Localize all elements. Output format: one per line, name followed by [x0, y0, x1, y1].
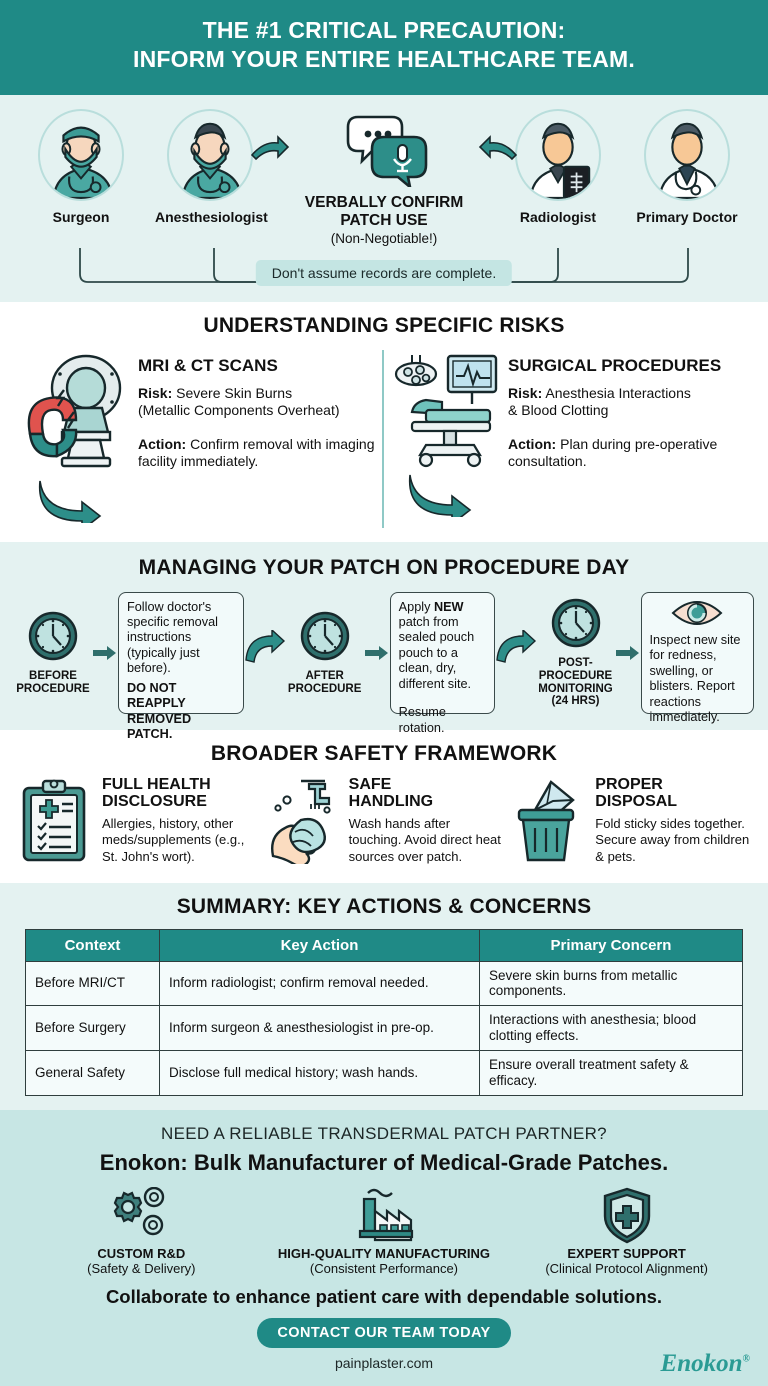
table-header-row: Context Key Action Primary Concern — [26, 929, 743, 961]
infographic-page: THE #1 CRITICAL PRECAUTION: INFORM YOUR … — [0, 0, 768, 1376]
arrow-right-icon — [615, 645, 641, 661]
safety-text: PROPER DISPOSAL Fold sticky sides togeth… — [595, 776, 750, 866]
cta-feature-sub: (Safety & Delivery) — [21, 1261, 261, 1276]
surgeon-avatar-icon — [38, 109, 124, 201]
arrow-right-icon — [92, 645, 118, 661]
flow-box-text: Follow doctor's specific removal instruc… — [127, 600, 235, 677]
cta-footer-section: NEED A RELIABLE TRANSDERMAL PATCH PARTNE… — [0, 1110, 768, 1386]
speech-bubble-microphone-icon — [284, 113, 484, 192]
team-member-primary-doctor: Primary Doctor — [632, 109, 742, 225]
confirm-subtitle: (Non-Negotiable!) — [284, 231, 484, 246]
table-row: Before Surgery Inform surgeon & anesthes… — [26, 1006, 743, 1051]
cta-tagline: Collaborate to enhance patient care with… — [0, 1286, 768, 1308]
summary-section: SUMMARY: KEY ACTIONS & CONCERNS Context … — [0, 883, 768, 1111]
registered-mark: ® — [743, 1354, 750, 1365]
team-member-label: Surgeon — [26, 209, 136, 225]
risk-value-2: & Blood Clotting — [508, 402, 608, 418]
risk-description: Risk: Severe Skin Burns (Metallic Compon… — [138, 385, 376, 420]
brand-name: Enokon — [661, 1350, 743, 1377]
verbal-confirm-block: VERBALLY CONFIRM PATCH USE (Non-Negotiab… — [284, 109, 484, 246]
team-member-label: Anesthesiologist — [155, 209, 265, 225]
cell-context: Before Surgery — [26, 1006, 160, 1051]
curved-arrow-icon — [244, 630, 286, 675]
team-member-surgeon: Surgeon — [26, 109, 136, 225]
confirm-title-l1: VERBALLY CONFIRM — [305, 194, 463, 211]
flow-step-label: AFTER PROCEDURE — [286, 670, 364, 696]
flow-box-text: Apply NEW patch from sealed pouch pouch … — [399, 600, 486, 693]
safety-heading: SAFE HANDLING — [349, 776, 504, 811]
flow-box-removal-instructions: Follow doctor's specific removal instruc… — [118, 592, 244, 714]
cta-feature-title: EXPERT SUPPORT — [507, 1246, 747, 1261]
summary-title: SUMMARY: KEY ACTIONS & CONCERNS — [0, 895, 768, 919]
cta-feature-sub: (Consistent Performance) — [264, 1261, 504, 1276]
specific-risks-section: UNDERSTANDING SPECIFIC RISKS — [0, 302, 768, 542]
safety-text: SAFE HANDLING Wash hands after touching.… — [349, 776, 504, 866]
primary-doctor-avatar-icon — [644, 109, 730, 201]
clock-icon — [299, 610, 351, 662]
clipboard-checklist-icon — [18, 776, 96, 869]
cell-action: Inform surgeon & anesthesiologist in pre… — [160, 1006, 480, 1051]
column-header-context: Context — [26, 929, 160, 961]
header-banner: THE #1 CRITICAL PRECAUTION: INFORM YOUR … — [0, 0, 768, 95]
cta-eyebrow: NEED A RELIABLE TRANSDERMAL PATCH PARTNE… — [0, 1124, 768, 1144]
handwashing-faucet-icon — [265, 776, 343, 869]
cell-concern: Severe skin burns from metallic componen… — [480, 961, 743, 1006]
safety-text: FULL HEALTH DISCLOSURE Allergies, histor… — [102, 776, 257, 866]
risk-heading: MRI & CT SCANS — [138, 356, 376, 376]
cell-context: General Safety — [26, 1051, 160, 1096]
column-header-key-action: Key Action — [160, 929, 480, 961]
cell-action: Inform radiologist; confirm removal need… — [160, 961, 480, 1006]
cta-feature-title: CUSTOM R&D — [21, 1246, 261, 1261]
website-url[interactable]: painplaster.com — [0, 1355, 768, 1371]
risk-description: Risk: Anesthesia Interactions & Blood Cl… — [508, 385, 748, 420]
radiologist-avatar-icon — [515, 109, 601, 201]
flow-step-after: AFTER PROCEDURE — [286, 610, 364, 696]
cell-concern: Interactions with anesthesia; blood clot… — [480, 1006, 743, 1051]
risk-action: Action: Confirm removal with imaging fac… — [138, 436, 376, 471]
table-row: General Safety Disclose full medical his… — [26, 1051, 743, 1096]
team-member-radiologist: Radiologist — [503, 109, 613, 225]
cell-action: Disclose full medical history; wash hand… — [160, 1051, 480, 1096]
team-member-label: Radiologist — [503, 209, 613, 225]
flow-box-apply-new-patch: Apply NEW patch from sealed pouch pouch … — [390, 592, 495, 714]
safety-body: Allergies, history, other meds/supplemen… — [102, 816, 257, 865]
cta-feature-title: HIGH-QUALITY MANUFACTURING — [264, 1246, 504, 1261]
risk-heading: SURGICAL PROCEDURES — [508, 356, 748, 376]
shield-cross-icon — [507, 1186, 747, 1244]
risk-value-2: (Metallic Components Overheat) — [138, 402, 340, 418]
safety-grid: FULL HEALTH DISCLOSURE Allergies, histor… — [0, 776, 768, 869]
enokon-logo: Enokon® — [661, 1350, 750, 1378]
anesthesiologist-avatar-icon — [167, 109, 253, 201]
cell-context: Before MRI/CT — [26, 961, 160, 1006]
action-label: Action: — [138, 436, 186, 452]
emphasis-new: NEW — [434, 600, 464, 614]
cta-feature-sub: (Clinical Protocol Alignment) — [507, 1261, 747, 1276]
confirm-title-l2: PATCH USE — [340, 212, 427, 229]
risk-column-mri: MRI & CT SCANS Risk: Severe Skin Burns (… — [14, 350, 384, 528]
risk-action: Action: Plan during pre-operative consul… — [508, 436, 748, 471]
cta-headline: Enokon: Bulk Manufacturer of Medical-Gra… — [0, 1150, 768, 1176]
eye-icon — [650, 600, 746, 630]
team-row: Surgeon Anest — [0, 109, 768, 246]
factory-icon — [264, 1186, 504, 1244]
flow-box-extra-text: Resume rotation. — [399, 705, 486, 736]
safety-item-handling: SAFE HANDLING Wash hands after touching.… — [261, 776, 508, 869]
flow-step-before: BEFORE PROCEDURE — [14, 610, 92, 696]
flow-box-text: Inspect new site for redness, swelling, … — [650, 633, 746, 726]
flow-box-bold-text: DO NOT REAPPLY REMOVED PATCH. — [127, 681, 235, 743]
arrow-right-icon — [250, 135, 290, 168]
procedure-flow: BEFORE PROCEDURE Follow doctor's specifi… — [0, 592, 768, 714]
flow-box-inspect-site: Inspect new site for redness, swelling, … — [641, 592, 755, 714]
safety-body: Wash hands after touching. Avoid direct … — [349, 816, 504, 865]
safety-heading: FULL HEALTH DISCLOSURE — [102, 776, 257, 811]
records-note: Don't assume records are complete. — [256, 260, 512, 286]
mri-scanner-magnet-icon — [20, 350, 132, 528]
arrow-left-icon — [478, 135, 518, 168]
summary-table: Context Key Action Primary Concern Befor… — [25, 929, 743, 1097]
flow-step-label: POST-PROCEDURE MONITORING (24 HRS) — [537, 657, 615, 709]
risk-label: Risk: — [138, 385, 172, 401]
cell-concern: Ensure overall treatment safety & effica… — [480, 1051, 743, 1096]
team-connector: Don't assume records are complete. — [0, 248, 768, 292]
gears-icon — [21, 1186, 261, 1244]
safety-item-disclosure: FULL HEALTH DISCLOSURE Allergies, histor… — [14, 776, 261, 869]
cta-features: CUSTOM R&D (Safety & Delivery) HIGH-QU — [0, 1186, 768, 1276]
team-member-anesthesiologist: Anesthesiologist — [155, 109, 265, 225]
action-label: Action: — [508, 436, 556, 452]
safety-title: BROADER SAFETY FRAMEWORK — [0, 742, 768, 766]
risk-value: Severe Skin Burns — [172, 385, 292, 401]
procedure-day-title: MANAGING YOUR PATCH ON PROCEDURE DAY — [0, 556, 768, 580]
healthcare-team-section: Surgeon Anest — [0, 95, 768, 302]
clock-icon — [27, 610, 79, 662]
header-line-1: THE #1 CRITICAL PRECAUTION: — [203, 17, 566, 43]
risk-column-surgery: SURGICAL PROCEDURES Risk: Anesthesia Int… — [384, 350, 754, 528]
confirm-title: VERBALLY CONFIRM PATCH USE — [284, 194, 484, 230]
risk-value: Anesthesia Interactions — [542, 385, 691, 401]
safety-body: Fold sticky sides together. Secure away … — [595, 816, 750, 865]
curved-arrow-icon — [495, 630, 537, 675]
trash-disposal-icon — [511, 776, 589, 869]
risk-text-surgery: SURGICAL PROCEDURES Risk: Anesthesia Int… — [508, 350, 748, 471]
risks-title: UNDERSTANDING SPECIFIC RISKS — [0, 314, 768, 338]
procedure-day-section: MANAGING YOUR PATCH ON PROCEDURE DAY BEF… — [0, 542, 768, 730]
risk-label: Risk: — [508, 385, 542, 401]
header-line-2: INFORM YOUR ENTIRE HEALTHCARE TEAM. — [133, 46, 635, 72]
risks-grid: MRI & CT SCANS Risk: Severe Skin Burns (… — [0, 350, 768, 528]
contact-us-button[interactable]: CONTACT OUR TEAM TODAY — [257, 1318, 510, 1348]
cta-feature-manufacturing: HIGH-QUALITY MANUFACTURING (Consistent P… — [264, 1186, 504, 1276]
table-row: Before MRI/CT Inform radiologist; confir… — [26, 961, 743, 1006]
page-title: THE #1 CRITICAL PRECAUTION: INFORM YOUR … — [20, 16, 748, 75]
flow-step-label: BEFORE PROCEDURE — [14, 670, 92, 696]
clock-icon — [550, 597, 602, 649]
cta-feature-expert-support: EXPERT SUPPORT (Clinical Protocol Alignm… — [507, 1186, 747, 1276]
team-member-label: Primary Doctor — [632, 209, 742, 225]
risk-text-mri: MRI & CT SCANS Risk: Severe Skin Burns (… — [138, 350, 376, 471]
arrow-right-icon — [364, 645, 390, 661]
column-header-primary-concern: Primary Concern — [480, 929, 743, 961]
operating-table-monitor-icon — [390, 350, 502, 522]
safety-heading: PROPER DISPOSAL — [595, 776, 750, 811]
safety-item-disposal: PROPER DISPOSAL Fold sticky sides togeth… — [507, 776, 754, 869]
flow-step-post-procedure: POST-PROCEDURE MONITORING (24 HRS) — [537, 597, 615, 709]
cta-feature-custom-rd: CUSTOM R&D (Safety & Delivery) — [21, 1186, 261, 1276]
safety-framework-section: BROADER SAFETY FRAMEWORK — [0, 730, 768, 883]
